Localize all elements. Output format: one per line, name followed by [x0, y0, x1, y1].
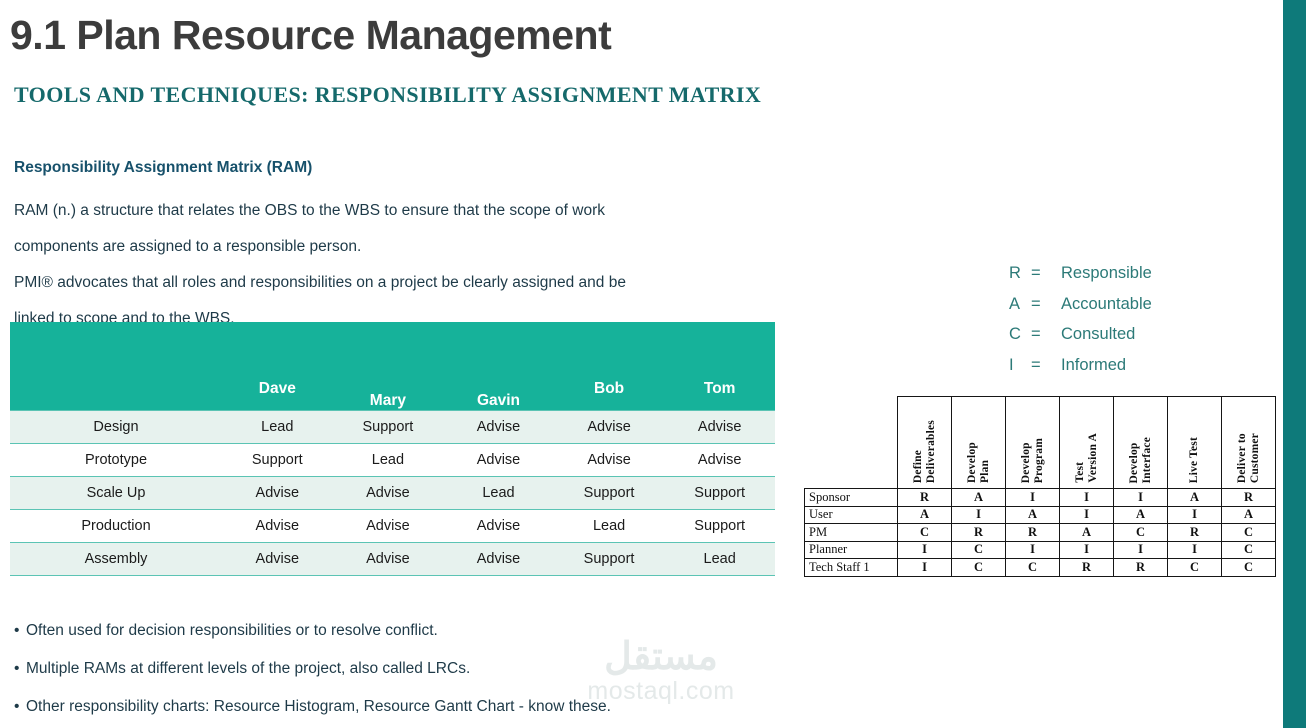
ram-value-cell: Advise: [222, 542, 333, 575]
raci-matrix-cell: I: [1060, 541, 1114, 559]
ram-value-cell: Support: [554, 542, 665, 575]
raci-matrix-cell: A: [1060, 524, 1114, 542]
ram-value-cell: Advise: [333, 476, 444, 509]
ram-value-cell: Advise: [664, 443, 775, 476]
ram-value-cell: Advise: [222, 509, 333, 542]
raci-matrix-col-label: Deliver to Customer: [1236, 430, 1262, 483]
raci-matrix-cell: C: [952, 559, 1006, 577]
ram-task-cell: Prototype: [10, 443, 222, 476]
list-item: • Other responsibility charts: Resource …: [14, 688, 774, 726]
raci-legend-equals: =: [1031, 289, 1061, 320]
raci-matrix-cell: C: [1222, 541, 1276, 559]
raci-legend-item: I = Informed: [1009, 350, 1152, 381]
raci-legend-label: Informed: [1061, 350, 1126, 381]
raci-legend: R = Responsible A = Accountable C = Cons…: [1009, 258, 1152, 380]
raci-matrix-row-label: Tech Staff 1: [805, 559, 898, 577]
ram-paragraph: PMI® advocates that all roles and respon…: [14, 265, 774, 301]
table-row: Planner I C I I I I C: [805, 541, 1276, 559]
table-row: Sponsor R A I I I A R: [805, 489, 1276, 507]
raci-matrix-header-row: Define Deliverables Develop Plan Develop…: [805, 397, 1276, 489]
raci-matrix-col-header: Develop Plan: [952, 397, 1006, 489]
raci-legend-label: Responsible: [1061, 258, 1152, 289]
ram-value-cell: Advise: [333, 509, 444, 542]
raci-matrix-col-label: Develop Plan: [966, 439, 992, 483]
ram-header-label: Bob: [554, 380, 665, 398]
ram-value-cell: Advise: [443, 542, 554, 575]
ram-value-cell: Lead: [554, 509, 665, 542]
raci-legend-equals: =: [1031, 258, 1061, 289]
raci-matrix-cell: A: [898, 506, 952, 524]
raci-matrix-cell: R: [1168, 524, 1222, 542]
raci-matrix-cell: R: [952, 524, 1006, 542]
raci-matrix-cell: I: [1114, 541, 1168, 559]
raci-matrix-col-header: Define Deliverables: [898, 397, 952, 489]
ram-table-header-row: Dave Mary Gavin Bob Tom: [10, 322, 775, 410]
ram-value-cell: Advise: [664, 410, 775, 443]
right-accent-bar: [1283, 0, 1306, 728]
table-row: PM C R R A C R C: [805, 524, 1276, 542]
ram-value-cell: Support: [333, 410, 444, 443]
raci-matrix-cell: I: [1060, 506, 1114, 524]
ram-value-cell: Lead: [222, 410, 333, 443]
raci-matrix-cell: I: [1114, 489, 1168, 507]
raci-matrix-cell: A: [1222, 506, 1276, 524]
raci-matrix-table: Define Deliverables Develop Plan Develop…: [804, 396, 1276, 577]
raci-matrix-cell: C: [1222, 524, 1276, 542]
raci-matrix-row-label: Planner: [805, 541, 898, 559]
page-subtitle: TOOLS AND TECHNIQUES: RESPONSIBILITY ASS…: [14, 82, 761, 108]
ram-header-cell-mary: Mary: [333, 322, 444, 410]
ram-header-cell-gavin: Gavin: [443, 322, 554, 410]
ram-value-cell: Lead: [443, 476, 554, 509]
raci-matrix-col-label: Develop Program: [1020, 435, 1046, 483]
list-item: • Multiple RAMs at different levels of t…: [14, 650, 774, 688]
bullet-marker-icon: •: [14, 688, 26, 726]
ram-header-label: Gavin: [443, 392, 554, 410]
bullet-text: Other responsibility charts: Resource Hi…: [26, 688, 611, 726]
raci-matrix-col-header: Deliver to Customer: [1222, 397, 1276, 489]
ram-task-cell: Design: [10, 410, 222, 443]
bullet-marker-icon: •: [14, 650, 26, 688]
table-row: Scale Up Advise Advise Lead Support Supp…: [10, 476, 775, 509]
raci-matrix-row-label: Sponsor: [805, 489, 898, 507]
ram-header-cell-tom: Tom: [664, 322, 775, 410]
raci-matrix-corner-cell: [805, 397, 898, 489]
ram-paragraph: RAM (n.) a structure that relates the OB…: [14, 193, 774, 229]
raci-matrix-cell: C: [1006, 559, 1060, 577]
raci-matrix-cell: I: [898, 559, 952, 577]
raci-matrix-cell: A: [952, 489, 1006, 507]
table-row: Assembly Advise Advise Advise Support Le…: [10, 542, 775, 575]
ram-section-body: RAM (n.) a structure that relates the OB…: [14, 193, 774, 337]
ram-header-label: Mary: [333, 392, 444, 410]
raci-matrix-cell: I: [1060, 489, 1114, 507]
raci-matrix-cell: A: [1114, 506, 1168, 524]
ram-header-cell-bob: Bob: [554, 322, 665, 410]
ram-header-cell-dave: Dave: [222, 322, 333, 410]
raci-matrix-cell: C: [898, 524, 952, 542]
ram-assignment-table: Dave Mary Gavin Bob Tom Design Lead Supp…: [10, 322, 775, 576]
ram-header-cell-task: [10, 322, 222, 410]
ram-value-cell: Advise: [554, 443, 665, 476]
raci-matrix-col-header: Test Version A: [1060, 397, 1114, 489]
raci-legend-key: C: [1009, 319, 1031, 350]
raci-matrix-col-header: Develop Program: [1006, 397, 1060, 489]
raci-matrix-cell: R: [1060, 559, 1114, 577]
ram-task-cell: Scale Up: [10, 476, 222, 509]
table-row: Production Advise Advise Advise Lead Sup…: [10, 509, 775, 542]
raci-legend-label: Consulted: [1061, 319, 1135, 350]
table-row: Prototype Support Lead Advise Advise Adv…: [10, 443, 775, 476]
ram-value-cell: Support: [554, 476, 665, 509]
ram-value-cell: Lead: [664, 542, 775, 575]
raci-matrix-cell: I: [1006, 489, 1060, 507]
raci-matrix-row-label: PM: [805, 524, 898, 542]
ram-value-cell: Advise: [222, 476, 333, 509]
ram-task-cell: Assembly: [10, 542, 222, 575]
ram-value-cell: Advise: [333, 542, 444, 575]
ram-value-cell: Support: [664, 509, 775, 542]
raci-legend-item: A = Accountable: [1009, 289, 1152, 320]
raci-legend-key: I: [1009, 350, 1031, 381]
ram-task-cell: Production: [10, 509, 222, 542]
raci-matrix-col-label: Live Test: [1188, 434, 1201, 483]
ram-value-cell: Support: [664, 476, 775, 509]
ram-header-label: Dave: [222, 380, 333, 398]
raci-matrix-cell: I: [952, 506, 1006, 524]
raci-matrix-col-label: Test Version A: [1074, 430, 1100, 483]
bullet-text: Often used for decision responsibilities…: [26, 612, 438, 650]
ram-value-cell: Advise: [443, 443, 554, 476]
raci-legend-item: C = Consulted: [1009, 319, 1152, 350]
raci-matrix-cell: A: [1006, 506, 1060, 524]
raci-matrix-cell: C: [952, 541, 1006, 559]
raci-legend-key: R: [1009, 258, 1031, 289]
raci-matrix-cell: A: [1168, 489, 1222, 507]
raci-matrix-col-label: Define Deliverables: [912, 417, 938, 483]
raci-legend-key: A: [1009, 289, 1031, 320]
ram-section-heading: Responsibility Assignment Matrix (RAM): [14, 159, 312, 177]
raci-matrix-cell: R: [1114, 559, 1168, 577]
raci-matrix-col-label: Develop Interface: [1128, 434, 1154, 484]
raci-matrix-cell: R: [1006, 524, 1060, 542]
raci-matrix-cell: I: [1168, 541, 1222, 559]
ram-value-cell: Lead: [333, 443, 444, 476]
bullet-list: • Often used for decision responsibiliti…: [14, 612, 774, 726]
raci-matrix-cell: C: [1114, 524, 1168, 542]
table-row: Tech Staff 1 I C C R R C C: [805, 559, 1276, 577]
ram-value-cell: Support: [222, 443, 333, 476]
raci-matrix-cell: R: [1222, 489, 1276, 507]
raci-matrix-cell: C: [1168, 559, 1222, 577]
bullet-marker-icon: •: [14, 612, 26, 650]
raci-legend-equals: =: [1031, 350, 1061, 381]
table-row: Design Lead Support Advise Advise Advise: [10, 410, 775, 443]
ram-value-cell: Advise: [443, 509, 554, 542]
raci-legend-label: Accountable: [1061, 289, 1152, 320]
raci-matrix-cell: I: [1168, 506, 1222, 524]
raci-matrix-cell: C: [1222, 559, 1276, 577]
ram-paragraph: components are assigned to a responsible…: [14, 229, 774, 265]
raci-matrix-row-label: User: [805, 506, 898, 524]
bullet-text: Multiple RAMs at different levels of the…: [26, 650, 470, 688]
raci-legend-equals: =: [1031, 319, 1061, 350]
raci-matrix-cell: I: [898, 541, 952, 559]
raci-matrix-col-header: Develop Interface: [1114, 397, 1168, 489]
ram-value-cell: Advise: [443, 410, 554, 443]
list-item: • Often used for decision responsibiliti…: [14, 612, 774, 650]
raci-matrix-col-header: Live Test: [1168, 397, 1222, 489]
raci-legend-item: R = Responsible: [1009, 258, 1152, 289]
ram-header-label: Tom: [664, 380, 775, 398]
table-row: User A I A I A I A: [805, 506, 1276, 524]
ram-value-cell: Advise: [554, 410, 665, 443]
raci-matrix-cell: I: [1006, 541, 1060, 559]
raci-matrix-cell: R: [898, 489, 952, 507]
page-title: 9.1 Plan Resource Management: [10, 14, 611, 57]
